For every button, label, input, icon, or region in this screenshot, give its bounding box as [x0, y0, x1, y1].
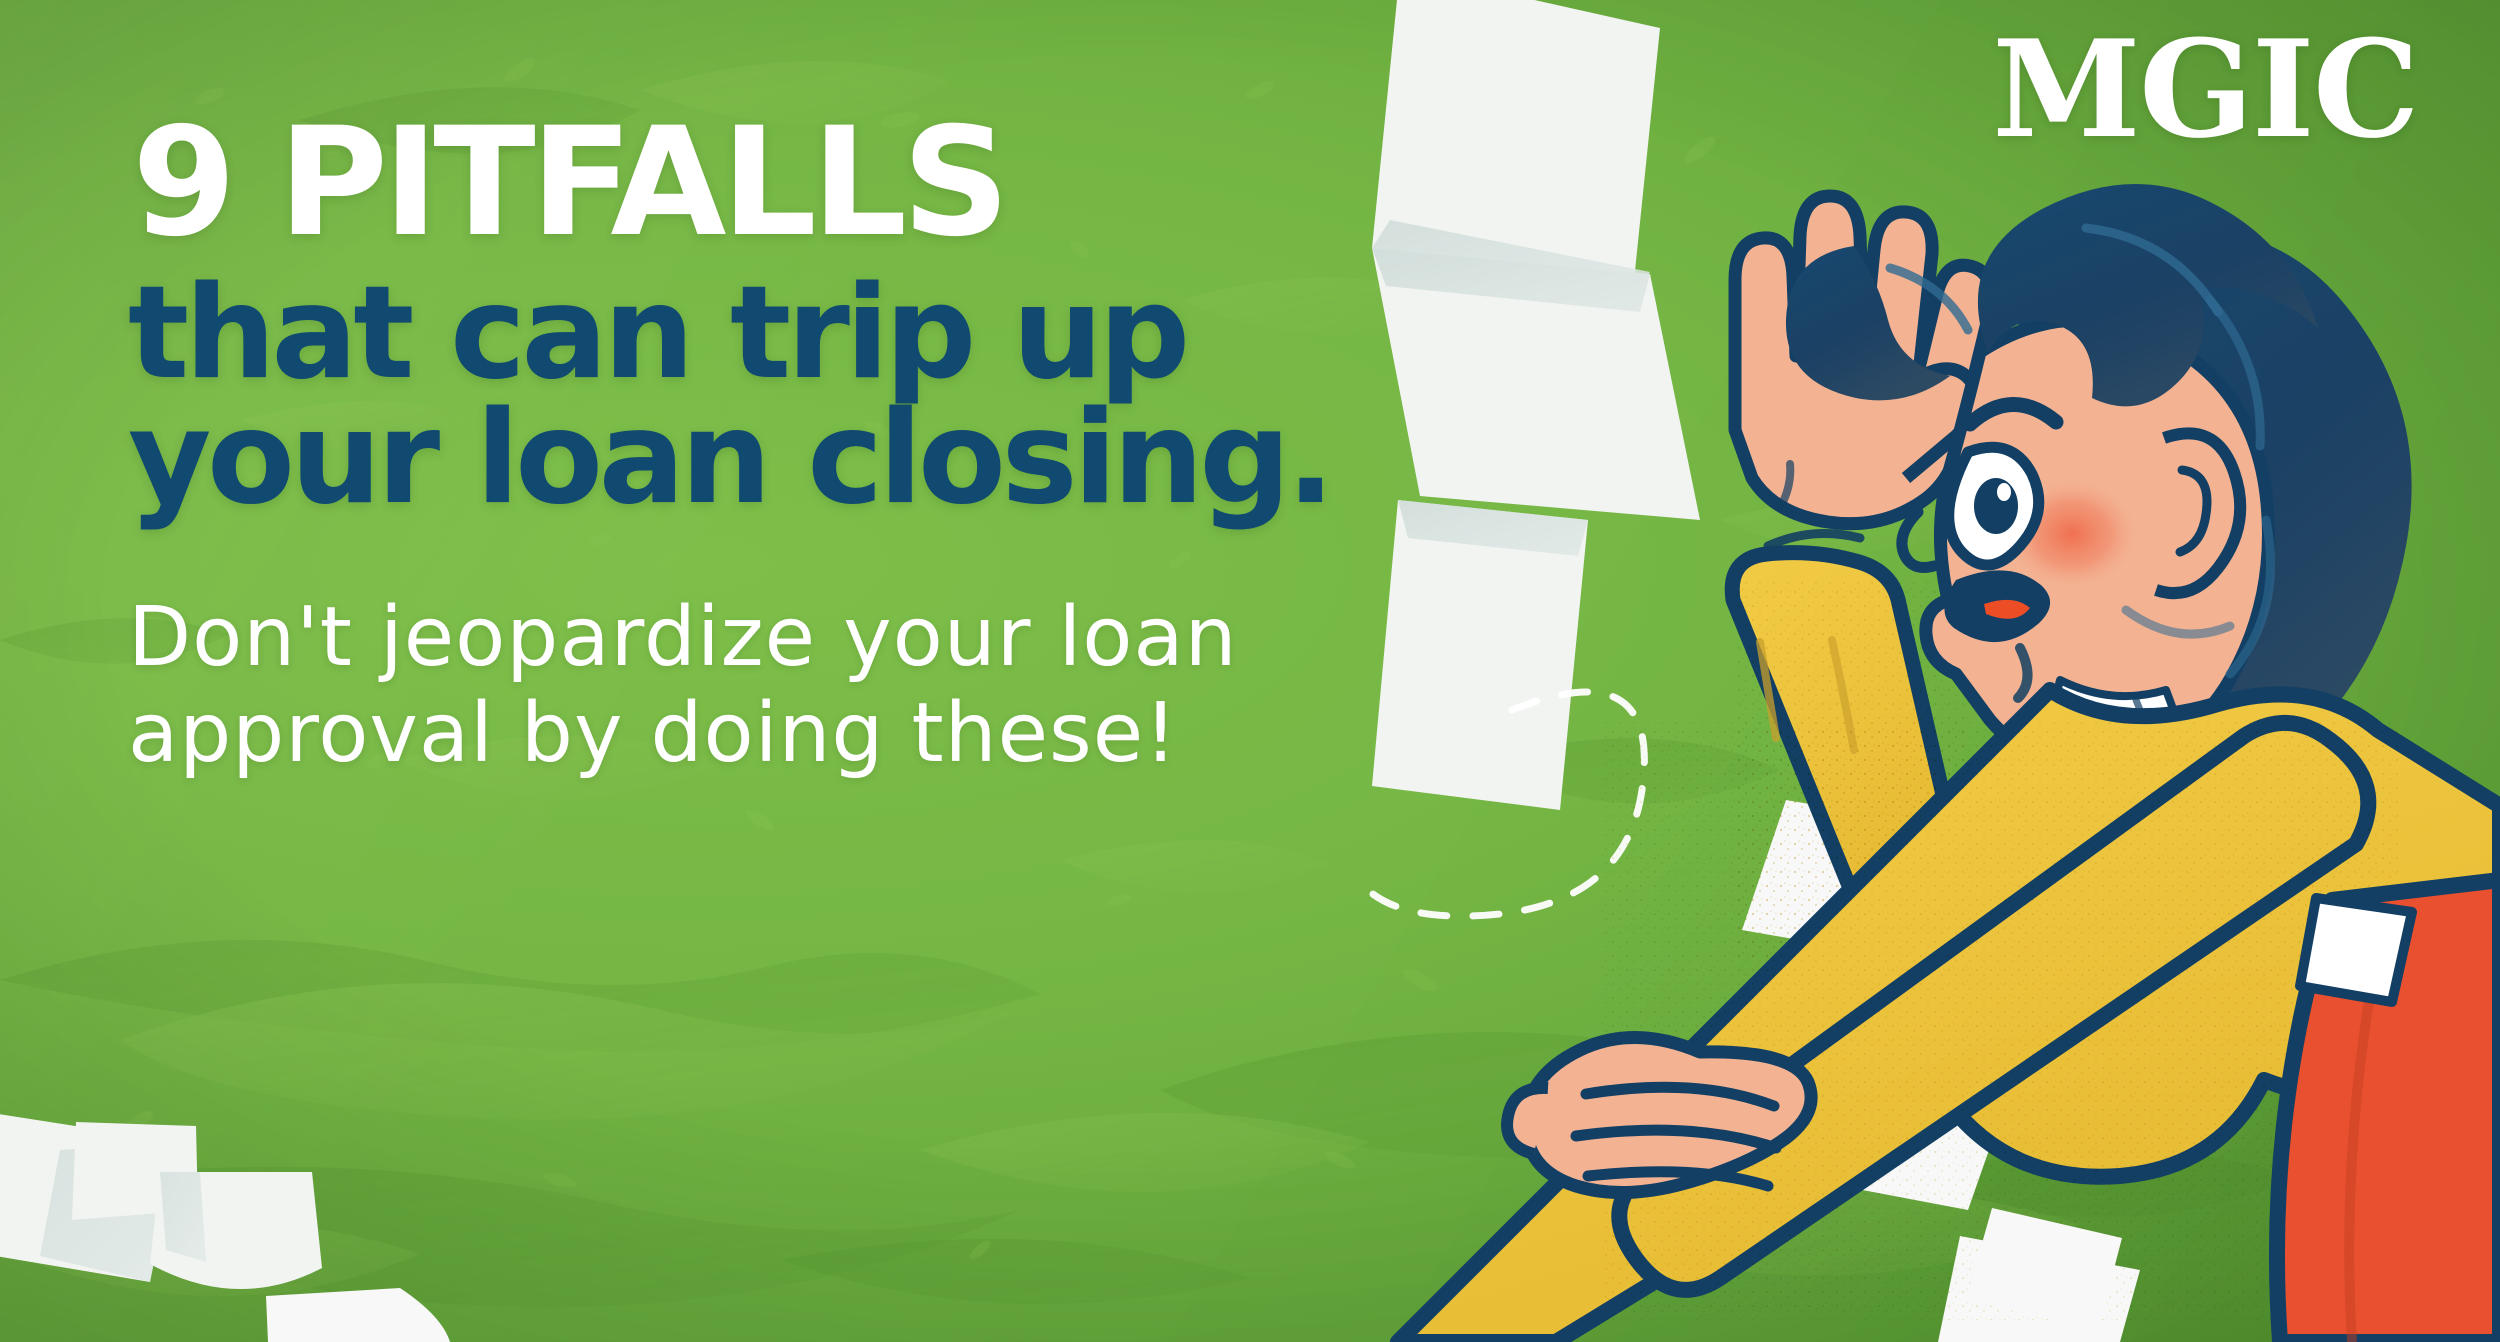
subheadline: Don't jeopardize your loan approval by d…: [128, 590, 1148, 784]
subheadline-line-1: Don't jeopardize your loan: [128, 590, 1148, 687]
marketing-banner: MGIC 9 PITFALLS that can trip up your lo…: [0, 0, 2500, 1342]
headline-line-2: that can trip up: [128, 273, 1448, 395]
subheadline-line-2: approval by doing these!: [128, 686, 1148, 783]
copy-block: 9 PITFALLS that can trip up your loan cl…: [128, 112, 1448, 783]
headline-line-3: your loan closing.: [128, 398, 1448, 520]
headline-line-1: 9 PITFALLS: [132, 112, 1448, 255]
mgic-logo[interactable]: MGIC: [1992, 22, 2418, 156]
